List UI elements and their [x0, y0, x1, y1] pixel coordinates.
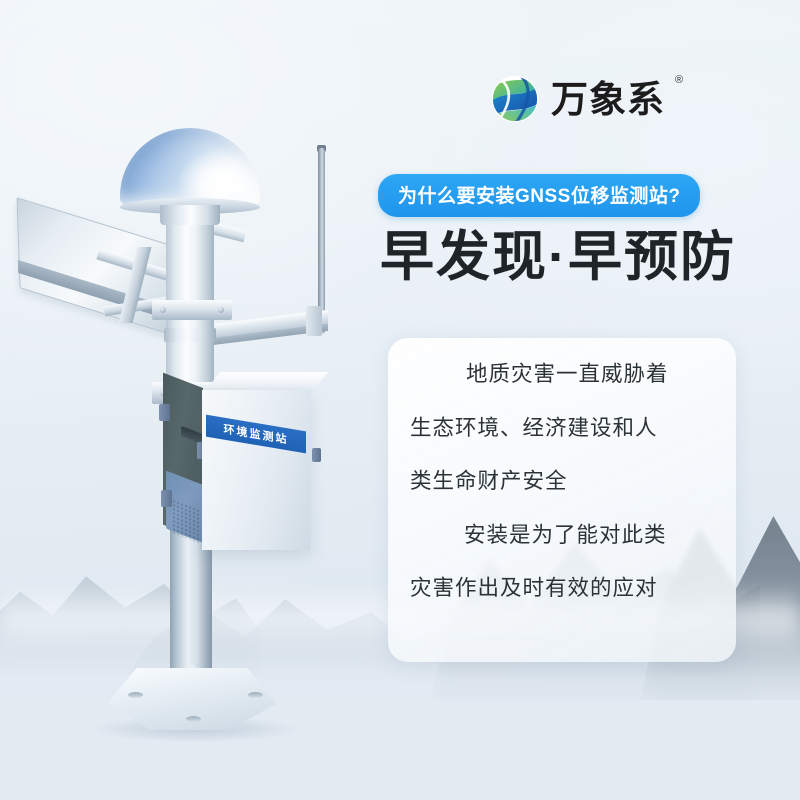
- enclosure-hinge: [159, 404, 170, 421]
- gnss-dome-neck: [160, 205, 220, 225]
- globe-swirl-logo-icon: [488, 72, 542, 126]
- poster-canvas: 环境监测站: [0, 0, 800, 800]
- description-card: 地质灾害一直威胁着 生态环境、经济建设和人 类生命财产安全 安装是为了能对此类 …: [388, 338, 736, 662]
- enclosure-right-latch: [312, 448, 321, 462]
- description-line-1: 地质灾害一直威胁着: [410, 364, 714, 386]
- base-bolt-hole: [186, 716, 201, 722]
- enclosure-box-icon: [202, 390, 310, 550]
- description-line-5: 灾害作出及时有效的应对: [410, 578, 714, 600]
- brand-logo: 万象系 ®: [488, 72, 683, 126]
- clamp-bolt: [160, 307, 166, 313]
- brand-name: 万象系: [551, 81, 665, 118]
- clamp-bolt: [218, 307, 224, 313]
- base-bolt-hole: [128, 692, 143, 698]
- pole-clamp-upper: [152, 300, 232, 320]
- base-bolt-hole: [248, 692, 263, 698]
- description-line-3: 类生命财产安全: [410, 471, 714, 493]
- gnss-station-illustration: 环境监测站: [0, 0, 400, 800]
- description-line-4: 安装是为了能对此类: [410, 525, 714, 547]
- gnss-dome-antenna-icon: [120, 128, 260, 206]
- description-line-2: 生态环境、经济建设和人: [410, 418, 714, 440]
- enclosure-hinge: [161, 490, 172, 507]
- page-title: 早发现·早预防: [380, 228, 736, 287]
- registered-trademark-icon: ®: [675, 74, 683, 86]
- antenna-bracket: [306, 306, 322, 336]
- question-badge: 为什么要安装GNSS位移监测站?: [378, 174, 700, 217]
- mounting-pole-collar: [164, 328, 216, 342]
- question-badge-text: 为什么要安装GNSS位移监测站?: [398, 186, 680, 207]
